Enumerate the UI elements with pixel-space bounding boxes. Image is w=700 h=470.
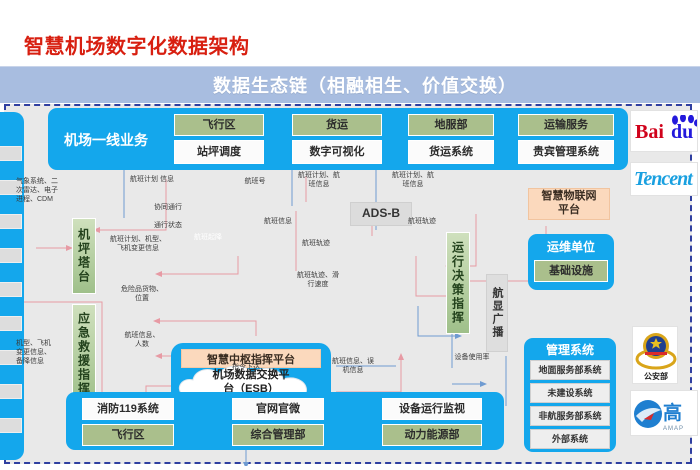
edge-label-equipment-usage: 设备使用率 [440, 354, 504, 363]
edge-label-flight-track: 航班轨迹 [286, 240, 346, 249]
actor-apron-tower[interactable]: 机坪塔台 [72, 218, 96, 294]
frontline-system-3[interactable]: 贵宾管理系统 [518, 140, 614, 164]
frontline-business-label: 机场一线业务 [64, 130, 148, 150]
edge-label-flight-info-persons: 航班信息、 人数 [110, 332, 174, 350]
ops-unit-group: 运维单位 基础设施 [528, 234, 614, 290]
edge-label-track-taxi-speed: 航班轨迹、滑 行速度 [280, 272, 356, 290]
actor-emergency-rescue[interactable]: 应急救援指挥 [72, 304, 96, 404]
left-edge-panel [0, 112, 24, 460]
bottom-system-2[interactable]: 设备运行监视 [382, 398, 482, 420]
frontline-dept-0[interactable]: 飞行区 [174, 114, 264, 136]
mgmt-system-item-2[interactable]: 非航服务部系统 [530, 406, 610, 426]
iot-platform-label: 智慧物联网 平台 [542, 190, 597, 218]
left-chip [0, 214, 22, 229]
left-chip [0, 316, 22, 331]
bottom-dept-0[interactable]: 飞行区 [82, 424, 174, 446]
data-ecosystem-band: 数据生态链（相融相生、价值交换） [0, 66, 700, 103]
mgmt-system-title: 管理系统 [524, 341, 616, 358]
amap-logo-latin: AMAP [663, 426, 684, 432]
edge-label-flight-track-2: 航班轨迹 [398, 218, 446, 227]
edge-label-collaborative-transit: 协同通行 [140, 204, 196, 213]
edge-label-dangerous-goods: 危险品货物、 位置 [106, 286, 178, 304]
iot-platform-node[interactable]: 智慧物联网 平台 [528, 188, 610, 220]
frontline-system-2[interactable]: 货运系统 [408, 140, 494, 164]
actor-operation-decision[interactable]: 运行决策指挥 [446, 232, 470, 334]
edge-label-flight-plan-info-2: 航班计划、航 班信息 [288, 172, 350, 190]
bottom-dept-1[interactable]: 综合管理部 [232, 424, 324, 446]
partner-brand-rail: Bai du Baidu Tencent 数据交换 公安部 [628, 104, 700, 464]
left-chip [0, 282, 22, 297]
mgmt-system-item-3[interactable]: 外部系统 [530, 429, 610, 449]
frontline-dept-2[interactable]: 地服部 [408, 114, 494, 136]
edge-label-command-issued: 指令下达 [216, 364, 276, 373]
baidu-logo[interactable]: Bai du Baidu [630, 110, 698, 152]
data-ecosystem-band-label: 数据生态链（相融相生、价值交换） [213, 72, 517, 98]
frontline-dept-1[interactable]: 货运 [292, 114, 382, 136]
ops-unit-item-0[interactable]: 基础设施 [534, 260, 608, 282]
left-chip [0, 248, 22, 263]
ops-unit-title: 运维单位 [528, 238, 614, 255]
ministry-public-security-label: 公安部 [633, 371, 678, 382]
bottom-system-1[interactable]: 官网官微 [232, 398, 324, 420]
amap-logo[interactable]: 高 AMAP [630, 390, 698, 436]
bottom-dept-2[interactable]: 动力能源部 [382, 424, 482, 446]
left-chip [0, 418, 22, 433]
actor-flight-display-broadcast[interactable]: 航显广播 [486, 274, 508, 352]
edge-label-transit-status: 通行状态 [140, 222, 196, 231]
edge-label-flight-delay-info: 航班信息、误 机信息 [320, 358, 386, 376]
tencent-logo-text: Tencent [634, 168, 692, 191]
frontline-system-0[interactable]: 站坪调度 [174, 140, 264, 164]
ministry-public-security-logo[interactable]: 公安部 [632, 326, 678, 384]
frontline-dept-3[interactable]: 运输服务 [518, 114, 614, 136]
edge-label-flight-plan-aircraft: 航班计划、机型、 飞机变更信息 [94, 236, 182, 254]
tencent-logo[interactable]: Tencent [630, 162, 698, 196]
edge-label-flight-number: 航班号 [234, 178, 276, 187]
mgmt-system-item-0[interactable]: 地面服务部系统 [530, 360, 610, 380]
edge-label-flight-takeoff-landing: 航班起降 [182, 234, 234, 243]
mgmt-system-item-1[interactable]: 未建设系统 [530, 383, 610, 403]
mgmt-system-group: 管理系统 地面服务部系统 未建设系统 非航服务部系统 外部系统 [524, 338, 616, 452]
frontline-system-1[interactable]: 数字可视化 [292, 140, 382, 164]
bottom-system-0[interactable]: 消防119系统 [82, 398, 174, 420]
page-title: 智慧机场数字化数据架构 [24, 30, 250, 59]
edge-label-flight-plan-info: 航班计划 信息 [114, 176, 190, 185]
left-chip [0, 384, 22, 399]
edge-label-flight-plan-info-3: 航班计划、航 班信息 [382, 172, 444, 190]
edge-label-aircraft-change: 机型、飞机 变更信息、 备降信息 [16, 340, 70, 366]
edge-label-flight-info: 航班信息 [252, 218, 304, 227]
left-chip [0, 146, 22, 161]
architecture-canvas: 机场一线业务 飞行区 站坪调度 货运 数字可视化 地服部 货运系统 运输服务 贵… [4, 104, 692, 464]
edge-label-weather-systems: 气象系统、二 次雷达、电子 进程、CDM [16, 178, 72, 204]
